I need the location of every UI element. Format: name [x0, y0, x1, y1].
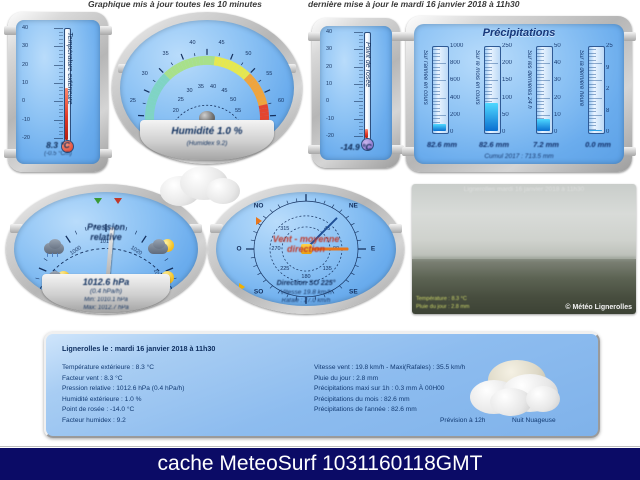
precipitation-graduation [589, 56, 596, 57]
precipitation-graduation [485, 70, 492, 71]
thermometer-tick [54, 46, 63, 47]
precipitation-axis-label: Sur les dernières 24 h [526, 50, 532, 109]
precipitation-fill [485, 103, 498, 131]
summary-panel: Lignerolles le : mardi 16 janvier 2018 à… [44, 332, 600, 438]
thermometer-minor-tick [359, 115, 363, 116]
thermometer-tick [354, 67, 363, 68]
precipitation-graduation [589, 115, 602, 116]
wind-degree-label: 135 [323, 266, 332, 272]
precipitation-graduation [433, 56, 440, 57]
thermometer-minor-tick [59, 131, 63, 132]
precipitation-graduation [433, 104, 440, 105]
webcam-horizon [412, 257, 636, 262]
humidity-inner-tick-label: 40 [210, 84, 216, 90]
precipitation-graduation [485, 63, 498, 64]
thermometer-tick-label: -10 [22, 117, 30, 123]
thermometer-tick [354, 101, 363, 102]
thermometer-minor-tick [359, 46, 363, 47]
precipitation-tick-label: 10 [554, 112, 561, 118]
precipitation-graduation [589, 84, 596, 85]
precipitation-tick-label: 50 [554, 43, 561, 49]
thermometer-minor-tick [359, 122, 363, 123]
webcam-overlay-rain: Pluie du jour : 2.8 mm [416, 304, 470, 310]
precipitation-graduation [589, 125, 596, 126]
wind-tick [351, 223, 354, 225]
precipitation-axis-label: Sur la dernière heure [578, 50, 584, 106]
precipitation-tick-label: 600 [450, 77, 460, 83]
humidity-tick-label: 20 [129, 127, 135, 133]
precipitation-value: 7.2 mm [522, 140, 570, 149]
thermometer-minor-tick [359, 105, 363, 106]
precipitation-graduation [589, 122, 596, 123]
precipitation-graduation [589, 77, 596, 78]
humidity-tick [194, 53, 195, 56]
thermometer-minor-tick [59, 109, 63, 110]
summary-line: Précipitations de l'année : 82.6 mm [314, 405, 465, 416]
pressure-title-2: relative [14, 232, 198, 242]
precipitation-graduation [537, 70, 544, 71]
precipitation-title: Précipitations [414, 27, 624, 39]
summary-line: Pression relative : 1012.6 hPa (0.4 hPa/… [62, 384, 184, 395]
precipitation-value: 0.0 mm [574, 140, 622, 149]
pressure-readout-plate: 1012.6 hPa (0.4 hPa/h) Min: 1010.1 hPa M… [42, 274, 170, 312]
webcam-credit: © Météo Lignerolles [565, 304, 632, 311]
precipitation-graduation [537, 108, 544, 109]
summary-line: Point de rosée : -14.0 °C [62, 405, 184, 416]
divider-line [0, 446, 640, 447]
thermometer-tick [354, 136, 363, 137]
precipitation-graduation [537, 98, 550, 99]
precipitation-tick-label: 1000 [450, 43, 463, 49]
thermometer-tick-label: 40 [326, 29, 332, 35]
thermometer-minor-tick [59, 54, 63, 55]
thermometer-tick-label: 20 [326, 64, 332, 70]
wind-tick [253, 265, 257, 266]
humidity-humidex: (Humidex 9.2) [140, 140, 274, 147]
humidity-tick [143, 103, 146, 104]
outdoor-temperature-value: 8.3 °C [16, 140, 100, 150]
wind-compass-label: NO [254, 202, 264, 209]
precipitation-graduation [589, 74, 596, 75]
summary-right-column: Vitesse vent : 19.8 km/h - Maxi(Rafales)… [314, 363, 465, 416]
precipitation-tick-label: 9 [606, 65, 609, 71]
precipitation-tick-label: 40 [554, 60, 561, 66]
precipitation-graduation [589, 63, 602, 64]
precipitation-tick-label: 100 [502, 95, 512, 101]
thermometer-minor-tick [359, 126, 363, 127]
thermometer-minor-tick [59, 35, 63, 36]
summary-line: Précipitations maxi sur 1h : 0.3 mm À 00… [314, 384, 465, 395]
thermometer-minor-tick [59, 68, 63, 69]
wind-compass-label: NE [349, 202, 358, 209]
precipitation-tick-label: 800 [450, 60, 460, 66]
thermometer-tick [354, 119, 363, 120]
pressure-tick [44, 259, 47, 261]
pressure-value: 1012.6 hPa [42, 277, 170, 287]
thermometer-minor-tick [359, 98, 363, 99]
precipitation-graduation [433, 84, 440, 85]
pressure-rate: (0.4 hPa/h) [42, 288, 170, 295]
wind-tick [346, 216, 349, 218]
precipitation-fill [433, 124, 446, 131]
humidity-tick-label: 60 [278, 98, 284, 104]
thermometer-minor-tick [59, 76, 63, 77]
thermometer-minor-tick [59, 112, 63, 113]
humidity-inner-tick-label: 20 [173, 108, 179, 114]
precipitation-tick-label: 50 [502, 112, 509, 118]
thermometer-minor-tick [359, 133, 363, 134]
thermometer-minor-tick [359, 63, 363, 64]
header-right-caption: dernière mise à jour le mardi 16 janvier… [308, 0, 520, 9]
wind-tick [258, 273, 261, 275]
wind-tick [339, 210, 342, 213]
thermometer-tick [354, 49, 363, 50]
pressure-tick [35, 278, 39, 279]
precipitation-graduation [433, 60, 440, 61]
precipitation-tick-label: 250 [502, 43, 512, 49]
wind-tick [357, 257, 361, 258]
precipitation-tick-label: 0 [450, 129, 453, 135]
precipitation-graduation [433, 70, 440, 71]
thermometer-tick-label: 30 [22, 43, 28, 49]
thermometer-minor-tick [59, 134, 63, 135]
precipitation-graduation [485, 94, 492, 95]
thermometer-tick-label: 0 [326, 98, 329, 104]
summary-line: Température extérieure : 8.3 °C [62, 363, 184, 374]
precipitation-graduation [433, 63, 446, 64]
wind-tick [278, 205, 280, 208]
precipitation-graduation [537, 84, 544, 85]
precipitation-graduation [589, 118, 596, 119]
precipitation-graduation [485, 87, 492, 88]
humidity-tick [241, 63, 243, 66]
precipitation-graduation [485, 60, 492, 61]
humidity-arc-segment [203, 56, 207, 65]
thermometer-mercury [365, 129, 368, 138]
thermometer-minor-tick [59, 127, 63, 128]
precipitation-graduation [589, 67, 596, 68]
humidity-tick [251, 68, 255, 72]
humidity-inner-tick-label: 45 [221, 88, 227, 94]
forecast-cloud-icon [464, 358, 584, 420]
thermometer-face: 403020100-10-20 Température extérieure 8… [16, 20, 100, 164]
thermometer-minor-tick [359, 91, 363, 92]
precipitation-graduation [589, 104, 596, 105]
wind-tick [270, 210, 273, 213]
precipitation-graduation [433, 67, 440, 68]
thermometer-minor-tick [359, 77, 363, 78]
thermometer-minor-tick [59, 123, 63, 124]
thermometer-minor-tick [59, 79, 63, 80]
precipitation-graduation [537, 49, 544, 50]
humidity-tick [153, 80, 155, 82]
outdoor-temperature-label: Température extérieure [66, 32, 73, 105]
thermometer-tick-label: 40 [22, 25, 28, 31]
precipitation-tick-label: 20 [554, 95, 561, 101]
thermometer-tick-label: -10 [326, 116, 334, 122]
humidity-inner-tick-label: 25 [178, 97, 184, 103]
humidity-inner-tick-label: 30 [187, 88, 193, 94]
summary-line: Facteur vent : 8.3 °C [62, 374, 184, 385]
precipitation-graduation [485, 56, 492, 57]
precipitation-graduation [433, 80, 446, 81]
dewpoint-label: Point de rosée [364, 42, 371, 87]
precipitation-graduation [537, 67, 544, 68]
thermometer-minor-tick [59, 50, 63, 51]
wind-direction-value: Direction SO 225° [216, 280, 396, 287]
precipitation-panel: Précipitations 10008006004002000Sur l'an… [406, 16, 632, 172]
pressure-min: Min: 1010.1 hPa [42, 297, 170, 303]
humidity-arc-segment [207, 56, 211, 65]
precipitation-graduation [589, 98, 602, 99]
dewpoint-face: 403020100-10-20 Point de rosée -14.9 °C [320, 26, 392, 160]
wind-degree-label: 315 [280, 226, 289, 232]
precipitation-value: 82.6 mm [418, 140, 466, 149]
precipitation-graduation [433, 122, 440, 123]
thermometer-minor-tick [59, 61, 63, 62]
humidity-tick-label: 30 [142, 71, 148, 77]
webcam-overlay-temp: Température : 8.3 °C [416, 296, 467, 302]
precipitation-cumul-note: Cumul 2017 : 713.5 mm [414, 153, 624, 160]
precipitation-graduation [589, 111, 596, 112]
wind-tick [296, 198, 297, 201]
thermometer-minor-tick [359, 74, 363, 75]
wind-degree-label: 225 [280, 266, 289, 272]
precipitation-graduation [485, 53, 492, 54]
thermometer-minor-tick [59, 39, 63, 40]
thermometer-tick-label: 10 [22, 80, 28, 86]
humidity-tick [231, 54, 233, 60]
wind-tick [355, 265, 359, 266]
precipitation-graduation [485, 67, 492, 68]
thermometer-minor-tick [359, 70, 363, 71]
wind-flag-marker [256, 217, 262, 225]
precipitation-graduation [537, 91, 544, 92]
thermometer-minor-tick [59, 94, 63, 95]
thermometer-tick [54, 83, 63, 84]
precipitation-graduation [433, 91, 440, 92]
webcam-sky [412, 184, 636, 259]
precipitation-graduation [589, 87, 596, 88]
precipitation-graduation [433, 53, 440, 54]
precipitation-tick-label: 200 [502, 60, 512, 66]
precipitation-graduation [589, 70, 596, 71]
precipitation-face: Précipitations 10008006004002000Sur l'an… [414, 24, 624, 164]
bottom-bar-text: cache MeteoSurf 1031160118GMT [0, 452, 640, 476]
humidity-tick [259, 80, 261, 82]
thermometer-tick [354, 32, 363, 33]
summary-line: Humidité extérieure : 1.0 % [62, 395, 184, 406]
weather-dashboard: Graphique mis à jour toutes les 10 minut… [0, 0, 640, 480]
precipitation-tick-label: 400 [450, 95, 460, 101]
precipitation-graduation [485, 84, 492, 85]
precipitation-tick-label: 0 [554, 129, 557, 135]
precipitation-value: 82.6 mm [470, 140, 518, 149]
precipitation-graduation [537, 115, 550, 116]
precipitation-graduation [589, 49, 596, 50]
precipitation-graduation [485, 80, 498, 81]
thermometer-tick [54, 101, 63, 102]
thermometer-minor-tick [59, 116, 63, 117]
thermometer-minor-tick [359, 56, 363, 57]
precipitation-tick-label: 0 [502, 129, 505, 135]
precipitation-graduation [433, 49, 440, 50]
humidity-tick-label: 55 [266, 71, 272, 77]
summary-line: Pluie du jour : 2.8 mm [314, 374, 465, 385]
humidity-inner-tick-label: 35 [198, 84, 204, 90]
bottom-status-bar: cache MeteoSurf 1031160118GMT [0, 448, 640, 480]
thermometer-tick-label: 10 [326, 81, 332, 87]
precipitation-graduation [433, 118, 440, 119]
precipitation-graduation [537, 80, 550, 81]
pressure-title-1: Pression [14, 222, 198, 232]
precipitation-fill [589, 130, 602, 131]
summary-line: Précipitations du mois : 82.6 mm [314, 395, 465, 406]
precipitation-graduation [433, 94, 440, 95]
thermometer-minor-tick [59, 72, 63, 73]
humidity-tick-label: 35 [163, 51, 169, 57]
wind-title-1: Vent - moyenne [216, 234, 396, 244]
humidity-value: Humidité 1.0 % [140, 126, 274, 137]
precipitation-graduation [433, 87, 440, 88]
humidity-inner-tick-label: 50 [230, 97, 236, 103]
pressure-marker-green [94, 198, 102, 204]
precipitation-tick-label: 200 [450, 112, 460, 118]
thermometer-tick [54, 28, 63, 29]
thermometer-minor-tick [359, 129, 363, 130]
precipitation-tick-label: 0 [606, 129, 609, 135]
precipitation-graduation [433, 77, 440, 78]
humidity-tick-label: 65 [279, 127, 285, 133]
precipitation-graduation [537, 101, 544, 102]
pressure-marker-red [114, 198, 122, 204]
outdoor-temperature-panel: 403020100-10-20 Température extérieure 8… [8, 12, 108, 172]
webcam-caption: Lignerolles mardi 16 janvier 2018 à 11h3… [412, 186, 636, 193]
precipitation-graduation [589, 94, 596, 95]
header-left-caption: Graphique mis à jour toutes les 10 minut… [88, 0, 262, 9]
thermometer-minor-tick [359, 81, 363, 82]
precipitation-graduation [537, 63, 550, 64]
precipitation-graduation [537, 87, 544, 88]
wind-tick [315, 198, 316, 201]
thermometer-minor-tick [59, 43, 63, 44]
precipitation-graduation [485, 98, 498, 99]
thermometer-tick-label: -20 [326, 133, 334, 139]
decor-cloud-top [150, 162, 250, 208]
wind-speed-value: Vitesse 19.8 km/h [216, 289, 396, 296]
precipitation-graduation [433, 74, 440, 75]
wind-tick [287, 201, 288, 204]
precipitation-graduation [589, 101, 596, 102]
summary-line: Vitesse vent : 19.8 km/h - Maxi(Rafales)… [314, 363, 465, 374]
pressure-max: Max: 1012.7 hPa [42, 305, 170, 311]
humidity-tick [159, 68, 163, 72]
precipitation-graduation [485, 74, 492, 75]
precipitation-graduation [537, 74, 544, 75]
precipitation-tick-label: 2 [606, 86, 609, 92]
precipitation-tick-label: 30 [554, 77, 561, 83]
precipitation-graduation [433, 115, 446, 116]
outdoor-temperature-trend: (-0.5 °C/h) [16, 151, 100, 157]
thermometer-tick-label: 0 [22, 98, 25, 104]
wind-tick [355, 231, 359, 232]
thermometer-minor-tick [59, 98, 63, 99]
precipitation-graduation [589, 60, 596, 61]
precipitation-tick-label: 150 [502, 77, 512, 83]
precipitation-tick-label: 25 [606, 43, 613, 49]
precipitation-graduation [537, 56, 544, 57]
thermometer-minor-tick [359, 112, 363, 113]
precipitation-tick-label: 8 [606, 108, 609, 114]
thermometer-minor-tick [59, 105, 63, 106]
thermometer-tick [54, 120, 63, 121]
precipitation-graduation [537, 53, 544, 54]
humidity-tick-label: 40 [189, 40, 195, 46]
precipitation-graduation [485, 49, 492, 50]
summary-line: Facteur humidex : 9.2 [62, 416, 184, 427]
humidity-tick [265, 90, 270, 92]
precipitation-graduation [589, 80, 602, 81]
precipitation-graduation [433, 98, 446, 99]
wind-tick [251, 257, 255, 258]
precipitation-graduation [589, 53, 596, 54]
thermometer-tick [354, 84, 363, 85]
thermometer-minor-tick [359, 53, 363, 54]
thermometer-minor-tick [359, 87, 363, 88]
humidity-tick [219, 53, 220, 56]
precipitation-fill [537, 119, 550, 131]
humidity-tick [181, 54, 183, 60]
wind-tick [253, 231, 257, 232]
wind-degree-label: 180 [301, 274, 310, 280]
thermometer-tick [54, 65, 63, 66]
humidity-tick [171, 63, 173, 66]
wind-title-2: direction [216, 244, 396, 254]
thermometer-minor-tick [359, 94, 363, 95]
thermometer-minor-tick [359, 35, 363, 36]
humidity-tick-label: 45 [218, 40, 224, 46]
wind-tick [351, 273, 354, 275]
humidity-gauge-panel: 2025303540455055606515202530354045505560… [112, 12, 302, 164]
wind-gust-value: Rafale : 27.0 km/h [216, 298, 396, 304]
thermometer-minor-tick [59, 32, 63, 33]
humidity-tick-label: 50 [245, 51, 251, 57]
wind-tick [324, 201, 325, 204]
thermometer-tick [54, 138, 63, 139]
precipitation-graduation [589, 108, 596, 109]
humidity-inner-tick-label: 55 [235, 108, 241, 114]
precipitation-graduation [485, 91, 492, 92]
precipitation-graduation [433, 108, 440, 109]
wind-tick [332, 205, 334, 208]
humidity-tick [144, 90, 149, 92]
webcam-image[interactable]: Lignerolles mardi 16 janvier 2018 à 11h3… [412, 184, 636, 314]
precipitation-axis-label: Sur le mois en cours [474, 50, 480, 105]
precipitation-graduation [589, 91, 596, 92]
precipitation-graduation [537, 77, 544, 78]
thermometer-tick-label: 20 [22, 62, 28, 68]
thermometer-minor-tick [359, 39, 363, 40]
precipitation-graduation [537, 111, 544, 112]
precipitation-graduation [537, 94, 544, 95]
wind-gauge-face: NNEESESSOONO4590135180225270315 Vent - m… [216, 192, 396, 306]
thermometer-minor-tick [359, 42, 363, 43]
summary-left-column: Température extérieure : 8.3 °CFacteur v… [62, 363, 184, 426]
wind-tick [263, 216, 266, 218]
thermometer-minor-tick [359, 60, 363, 61]
precipitation-graduation [433, 111, 440, 112]
precipitation-graduation [485, 101, 492, 102]
